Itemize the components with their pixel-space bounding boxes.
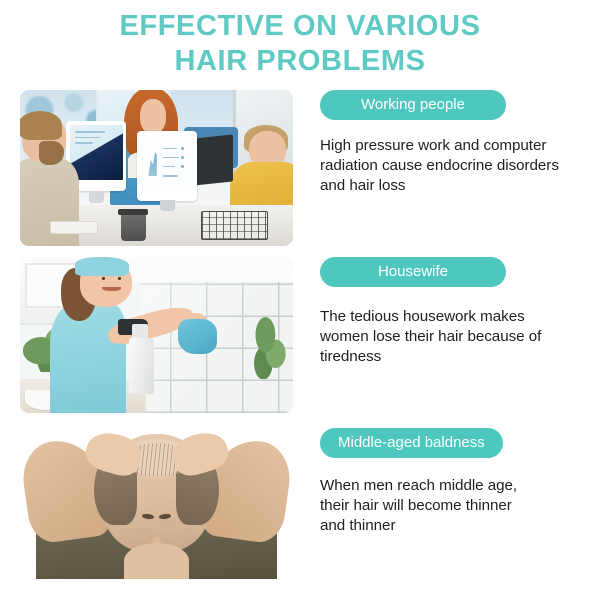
section-housewife: Housewife The tedious housework makes wo… — [0, 257, 600, 413]
section-middle-aged-baldness: Middle-aged baldness When men reach midd… — [0, 428, 600, 579]
text-column-middle-aged-baldness: Middle-aged baldness When men reach midd… — [320, 428, 588, 579]
screen-chart — [148, 147, 156, 177]
spray-bottle — [129, 338, 154, 394]
wire-basket — [201, 211, 269, 240]
badge-working-people: Working people — [320, 90, 506, 120]
mug-lid — [118, 209, 148, 215]
face — [140, 99, 166, 134]
text-column-working-people: Working people High pressure work and co… — [320, 90, 588, 246]
page-title: EFFECTIVE ON VARIOUS HAIR PROBLEMS — [0, 9, 600, 79]
monitor-screen — [141, 134, 194, 191]
hair — [20, 111, 62, 140]
neck — [124, 543, 190, 579]
eyebrow-right — [158, 513, 171, 519]
coffee-mug — [121, 213, 146, 241]
text-column-housewife: Housewife The tedious housework makes wo… — [320, 257, 588, 413]
blue-headband — [75, 257, 130, 276]
plant-right — [249, 316, 290, 378]
photo-working-people — [20, 90, 293, 246]
photo-middle-aged-baldness — [20, 428, 293, 579]
badge-middle-aged-baldness: Middle-aged baldness — [320, 428, 503, 458]
badge-housewife: Housewife — [320, 257, 506, 287]
body-housewife: The tedious housework makes women lose t… — [320, 307, 588, 367]
body-middle-aged-baldness: When men reach middle age, their hair wi… — [320, 476, 588, 536]
imac-monitor-right — [137, 131, 197, 201]
blue-tank-top — [50, 302, 126, 413]
eyebrow-left — [142, 513, 155, 519]
beard — [39, 141, 65, 165]
monitor-stand — [160, 200, 174, 211]
monitor-stand — [89, 191, 103, 203]
notebook — [50, 221, 98, 234]
office-scene-illustration — [20, 90, 293, 246]
body-working-people: High pressure work and computer radiatio… — [320, 136, 588, 196]
kitchen-scene-illustration — [20, 257, 293, 413]
balding-man-illustration — [20, 428, 293, 579]
photo-housewife — [20, 257, 293, 413]
section-working-people: Working people High pressure work and co… — [0, 90, 600, 246]
blue-cleaning-cloth — [178, 319, 216, 353]
